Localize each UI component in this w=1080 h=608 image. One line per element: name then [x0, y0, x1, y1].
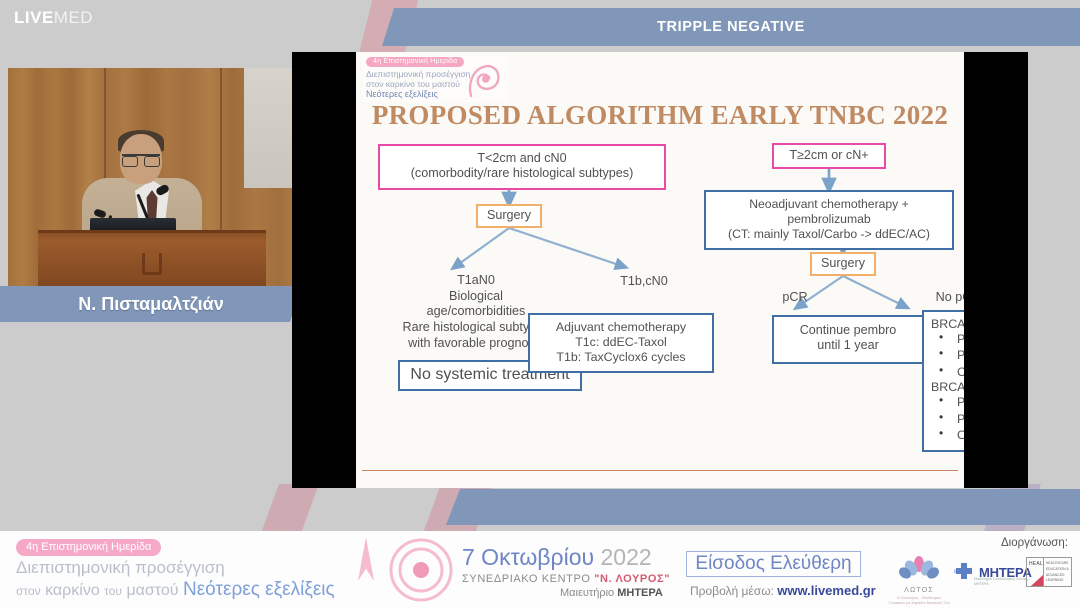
node-continue-pembro-line1: Continue pembro: [778, 323, 918, 338]
footer-date-text: 7 Οκτωβρίου: [462, 544, 594, 570]
brca-wt-list: Pembro ± cape Pembro => cape Cape: [933, 331, 964, 380]
label-t1an0-line2: Biological: [366, 289, 586, 305]
node-neoadjuvant: Neoadjuvant chemotherapy + pembrolizumab…: [704, 190, 954, 250]
video-scene: [8, 68, 296, 290]
conference-logo-pill: 4η Επιστημονική Ημερίδα: [366, 57, 464, 67]
speaker-name-bar: Ν. Πισταμαλτζιάν: [0, 286, 302, 322]
brca-wt-header: BRCAwt:: [931, 317, 964, 331]
slide-canvas: 4η Επιστημονική Ημερίδα Διεπιστημονική π…: [356, 52, 964, 488]
conference-logo: 4η Επιστημονική Ημερίδα Διεπιστημονική π…: [362, 54, 508, 102]
footer-spiral-icon: [388, 537, 454, 603]
list-item: Olaparib: [933, 427, 964, 443]
sponsor-mitera-sub: Μαιευτήριο Γυναικολογική Κλινική / ΜΗΤΕΡ…: [974, 577, 1032, 588]
footer-watch-prefix: Προβολή μέσω:: [690, 584, 774, 598]
node-surgery-left: Surgery: [476, 204, 542, 228]
footer-venue-sub: Μαιευτήριο ΜΗΤΕΡΑ: [560, 587, 663, 599]
node-brca-options: BRCAwt: Pembro ± cape Pembro => cape Cap…: [922, 310, 964, 452]
footer-date: 7 Οκτωβρίου 2022: [462, 544, 652, 571]
podium: [38, 230, 266, 290]
footer-line3: στον καρκίνο του μαστού Νεότερες εξελίξε…: [16, 579, 335, 601]
bottom-blue-banner: [446, 489, 1080, 525]
label-no-pcr: No pCR: [912, 290, 964, 306]
livemed-logo[interactable]: LIVEMED: [14, 8, 93, 28]
session-title-banner: TRIPPLE NEGATIVE: [382, 8, 1080, 46]
node-continue-pembro-line2: until 1 year: [778, 338, 918, 353]
node-neoadjuvant-line2: (CT: mainly Taxol/Carbo -> ddEC/AC): [711, 227, 947, 242]
conference-logo-line4: Νεότερες εξελίξεις: [366, 89, 438, 99]
free-entry-badge: Είσοδος Ελεύθερη: [686, 551, 861, 577]
list-item: Cape: [933, 364, 964, 380]
node-surgery-right-label: Surgery: [816, 256, 870, 271]
node-adjuvant-line2: T1c: ddEC-Taxol: [534, 335, 708, 350]
footer-watch-url[interactable]: www.livemed.gr: [777, 583, 876, 598]
node-adjuvant-chemo: Adjuvant chemotherapy T1c: ddEC-Taxol T1…: [528, 313, 714, 373]
list-item: Pembro => olaparib: [933, 411, 964, 427]
free-entry-text: Είσοδος Ελεύθερη: [695, 553, 851, 575]
node-neoadjuvant-line1: Neoadjuvant chemotherapy + pembrolizumab: [711, 197, 947, 227]
node-small-tumor-line2: (comorbodity/rare histological subtypes): [384, 166, 660, 181]
speaker-glasses: [122, 154, 160, 163]
footer-line2: Διεπιστημονική προσέγγιση: [16, 558, 225, 578]
footer-line3-highlight: Νεότερες εξελίξεις: [183, 579, 335, 600]
podium-emblem-icon: [142, 253, 162, 275]
node-adjuvant-line1: Adjuvant chemotherapy: [534, 320, 708, 335]
footer-venue-sub-b: ΜΗΤΕΡΑ: [617, 587, 663, 599]
footer-line3-b: καρκίνο: [45, 582, 100, 599]
node-continue-pembro: Continue pembro until 1 year: [772, 315, 924, 364]
heal-mark-box: HEAL: [1027, 558, 1044, 586]
node-adjuvant-line3: T1b: TaxCyclox6 cycles: [534, 350, 708, 365]
sponsor-lotos-name: ΛΩΤΟΣ: [888, 587, 950, 594]
footer-conference-identity: 4η Επιστημονική Ημερίδα Διεπιστημονική π…: [10, 537, 360, 603]
heal-triangle-icon: [1031, 575, 1043, 586]
footer-venue-prefix: ΣΥΝΕΔΡΙΑΚΟ ΚΕΝΤΡΟ: [462, 573, 591, 585]
footer-watch-info: Προβολή μέσω: www.livemed.gr: [690, 583, 876, 598]
slide-stage[interactable]: 4η Επιστημονική Ημερίδα Διεπιστημονική π…: [292, 52, 1028, 488]
list-item: Pembro => cape: [933, 347, 964, 363]
slide-title: PROPOSED ALGORITHM EARLY TNBC 2022: [356, 100, 964, 131]
footer-bar: 4η Επιστημονική Ημερίδα Διεπιστημονική π…: [0, 531, 1080, 608]
footer-line3-a: στον: [16, 584, 41, 598]
label-pcr: pCR: [752, 290, 838, 306]
footer-venue: ΣΥΝΕΔΡΙΑΚΟ ΚΕΝΤΡΟ "Ν. ΛΟΥΡΟΣ": [462, 573, 670, 585]
conference-logo-line2: Διεπιστημονική προσέγγιση: [366, 69, 470, 79]
footer-pill: 4η Επιστημονική Ημερίδα: [16, 539, 161, 556]
heal-wordmark: HEALTHCARE EDUCATION & ADVANCED LEARNING: [1044, 558, 1071, 586]
sponsor-logo-heal: HEAL HEALTHCARE EDUCATION & ADVANCED LEA…: [1026, 557, 1072, 587]
footer-line3-d: μαστού: [126, 582, 178, 599]
medical-cross-icon: ε: [952, 561, 976, 583]
brca-m-list: Pembro ± olaparib Pembro => olaparib Ola…: [933, 394, 964, 443]
speaker-name-text: Ν. Πισταμαλτζιάν: [78, 294, 223, 315]
conference-logo-line3: στον καρκίνο του μαστού: [366, 79, 460, 89]
livemed-logo-bold: LIVE: [14, 8, 54, 27]
footer-line3-c: του: [104, 584, 122, 598]
node-large-tumor: T≥2cm or cN+: [772, 143, 886, 169]
node-surgery-left-label: Surgery: [482, 208, 536, 223]
footer-year: 2022: [600, 544, 651, 570]
node-small-tumor-line1: T<2cm and cN0: [384, 151, 660, 166]
label-t1an0-line1: T1aN0: [366, 273, 586, 289]
brca-m-header: BRCAm:: [931, 380, 964, 394]
label-t1bcn0: T1b,cN0: [584, 274, 704, 290]
sponsor-lotos-sub: Ο Σύλλογος - Σύνδεσμος Γυναικών με Καρκί…: [888, 595, 950, 608]
session-title-text: TRIPPLE NEGATIVE: [657, 19, 805, 35]
sponsor-logo-lotos: ΛΩΤΟΣ Ο Σύλλογος - Σύνδεσμος Γυναικών με…: [888, 555, 950, 608]
footer-venue-name: "Ν. ΛΟΥΡΟΣ": [594, 573, 670, 585]
speaker-video[interactable]: [8, 68, 296, 290]
node-small-tumor: T<2cm and cN0 (comorbodity/rare histolog…: [378, 144, 666, 190]
slide-footer-rule: [362, 470, 958, 471]
livemed-logo-light: MED: [54, 8, 93, 27]
wall-panel: [244, 68, 296, 188]
breast-spiral-icon: [466, 59, 502, 99]
lotus-flower-icon: [899, 555, 939, 581]
node-large-tumor-label: T≥2cm or cN+: [778, 148, 880, 163]
heal-letters: HEAL: [1027, 558, 1043, 570]
list-item: Pembro ± olaparib: [933, 394, 964, 410]
svg-text:ε: ε: [954, 569, 957, 575]
node-surgery-right: Surgery: [810, 252, 876, 276]
sponsor-logo-mitera: ε ΜΗΤΕΡΑ Μαιευτήριο Γυναικολογική Κλινικ…: [952, 561, 1032, 583]
footer-organizers-label: Διοργάνωση:: [1001, 537, 1068, 549]
pink-ribbon-icon: [358, 537, 374, 581]
footer-venue-sub-a: Μαιευτήριο: [560, 587, 614, 599]
player-root: LIVEMED TRIPPLE NEGATIVE: [0, 0, 1080, 608]
list-item: Pembro ± cape: [933, 331, 964, 347]
